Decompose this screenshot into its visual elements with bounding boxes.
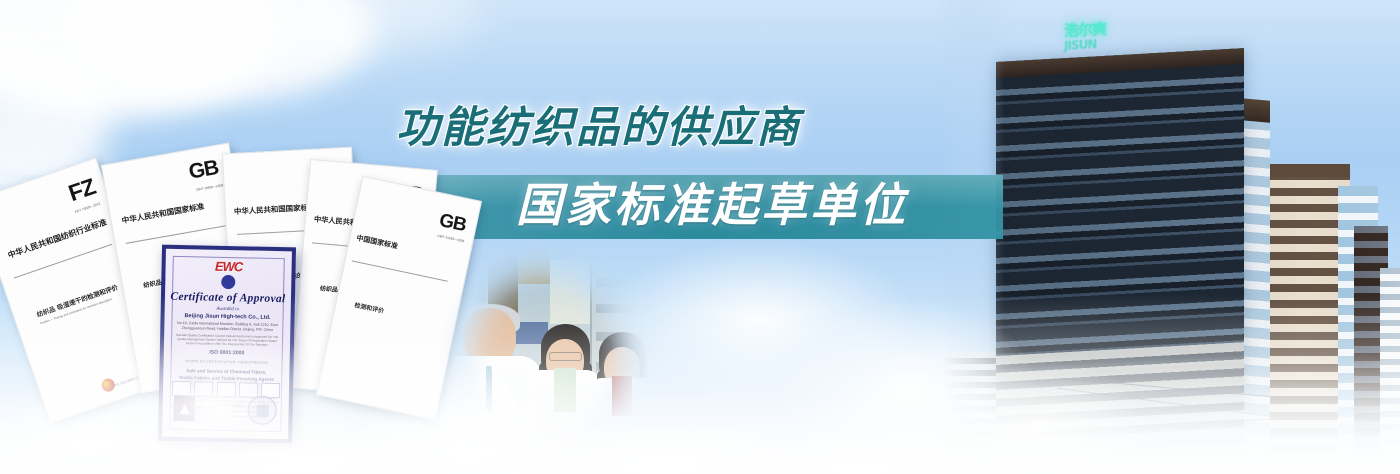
headline-group: 功能纺织品的供应商 国家标准起草单位 — [0, 106, 1010, 151]
standard-subtitle: 检测和评价 — [354, 300, 385, 315]
city-skyline-photo: 浩尔爽 JISUN — [940, 0, 1400, 474]
photo-vignette — [430, 238, 680, 474]
promo-banner: 浩尔爽 JISUN 功能纺织品的供应商 国家标准起草单位 FZ FZ/T 730… — [0, 0, 1400, 474]
rooftop-sign: 浩尔爽 JISUN — [1064, 20, 1136, 64]
ewc-logo: EWC — [165, 258, 291, 276]
standard-code: FZ — [65, 173, 98, 207]
divider — [126, 225, 231, 244]
detail-box — [194, 381, 213, 396]
standard-code: GB — [437, 210, 467, 237]
standard-title: 中国国家标准 — [356, 233, 399, 252]
cloud-shape — [150, 0, 380, 80]
detail-box — [172, 381, 191, 396]
rooftop-sign-line2: JISUN — [1064, 36, 1136, 52]
certificates-collage: FZ FZ/T 73020—2012 中华人民共和国纺织行业标准 纺织品 吸湿速… — [0, 150, 450, 474]
certificate-number-value: EWC71-0042 — [196, 405, 216, 409]
detail-box — [239, 382, 258, 397]
photo-bottom-haze — [940, 354, 1400, 474]
certificate-detail-boxes — [172, 381, 280, 396]
standard-title: 中华人民共和国纺织行业标准 — [6, 217, 108, 261]
standard-number: GB/T 18830—2009 — [196, 183, 224, 192]
standard-title: 中华人民共和国国家标准 — [121, 201, 205, 226]
ukas-accreditation-icon — [173, 396, 195, 421]
detail-box — [216, 382, 235, 397]
roof-cap — [1258, 164, 1350, 177]
cloud-shape — [0, 0, 280, 120]
laboratory-team-photo — [430, 238, 680, 474]
certificate-body-text: Has Met Quality Certification Council Re… — [173, 333, 281, 348]
cloud-shape — [70, 0, 370, 102]
cloud-shape — [300, 0, 480, 50]
approval-certificate: EWC Certificate of Approval Awarded to B… — [158, 245, 296, 444]
certificate-footer-id: A00010 — [174, 428, 183, 431]
headline-line-1: 功能纺织品的供应商 — [0, 106, 1010, 151]
standard-title: 中华人民共和国国家标准 — [234, 202, 316, 217]
standard-code: GB — [187, 156, 220, 185]
